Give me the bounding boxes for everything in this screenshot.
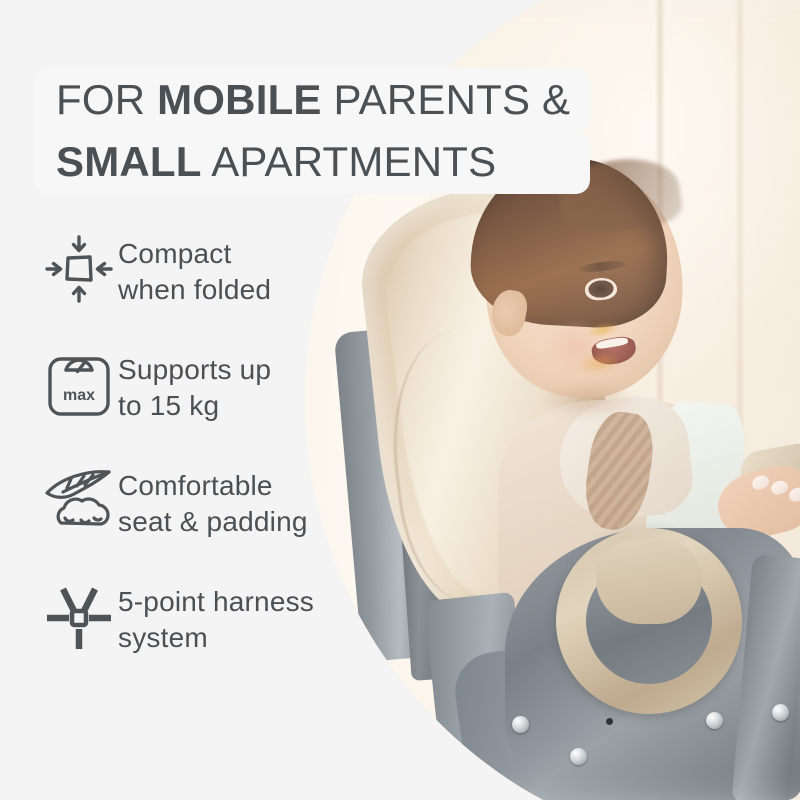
feature-item: Compact when folded — [40, 228, 388, 310]
feature-line-2: when folded — [118, 272, 271, 308]
harness-straps-icon — [40, 576, 118, 658]
headline: FOR MOBILE PARENTS & SMALL APARTMENTS — [34, 68, 590, 194]
headline-line-1: FOR MOBILE PARENTS & — [34, 68, 590, 132]
chin-shadow — [540, 380, 640, 420]
metal-rivet — [570, 748, 587, 765]
metal-rivet — [706, 712, 723, 729]
screw-hole — [606, 718, 613, 725]
feather-cloud-icon — [40, 460, 118, 542]
headline-l2-post: APARTMENTS — [202, 138, 497, 185]
feature-item: Comfortable seat & padding — [40, 460, 388, 542]
headline-line-2: SMALL APARTMENTS — [34, 130, 590, 194]
scale-max-label: max — [63, 387, 95, 404]
headline-l1-post: PARENTS & — [322, 76, 571, 123]
compress-arrows-icon — [40, 228, 118, 310]
max-weight-scale-icon: max — [40, 344, 118, 426]
fold-release-tab — [596, 540, 702, 624]
metal-rivet — [512, 716, 529, 733]
feature-text: Compact when folded — [118, 228, 271, 309]
feature-line-2: to 15 kg — [118, 388, 271, 424]
feature-text: 5-point harness system — [118, 576, 314, 657]
feature-line-1: Supports up — [118, 352, 271, 388]
feature-item: 5-point harness system — [40, 576, 388, 658]
feature-text: Comfortable seat & padding — [118, 460, 308, 541]
infographic-page: FOR MOBILE PARENTS & SMALL APARTMENTS Co… — [0, 0, 800, 800]
feature-line-1: Compact — [118, 236, 271, 272]
feature-text: Supports up to 15 kg — [118, 344, 271, 425]
headline-l2-bold: SMALL — [56, 138, 202, 185]
metal-rivet — [772, 704, 789, 721]
feature-list: Compact when folded max Supports up to 1… — [40, 228, 388, 658]
feature-line-1: Comfortable — [118, 468, 308, 504]
feature-line-2: seat & padding — [118, 504, 308, 540]
feature-line-1: 5-point harness — [118, 584, 314, 620]
feature-line-2: system — [118, 620, 314, 656]
feature-item: max Supports up to 15 kg — [40, 344, 388, 426]
headline-l1-pre: FOR — [56, 76, 157, 123]
headline-l1-bold: MOBILE — [157, 76, 322, 123]
